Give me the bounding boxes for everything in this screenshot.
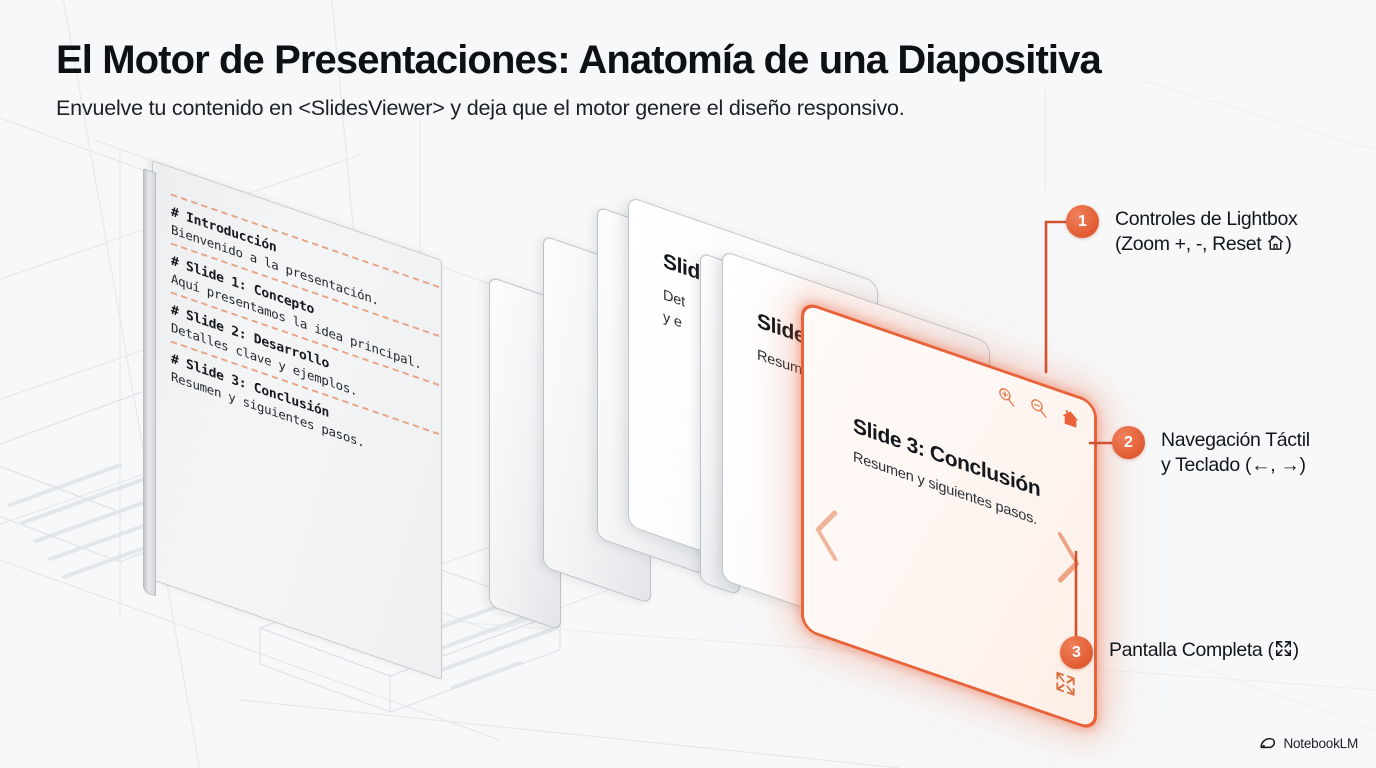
callout-line-2-pre: (Zoom +, -, Reset [1115, 233, 1266, 255]
callout-line-1: Navegación Táctil [1161, 429, 1310, 451]
callout-line-1-post: ) [1293, 639, 1299, 661]
callout-label: Pantalla Completa () [1109, 636, 1299, 663]
callout-label: Navegación Táctil y Teclado (←, →) [1161, 426, 1310, 478]
home-icon [1266, 233, 1285, 252]
callout-label: Controles de Lightbox (Zoom +, -, Reset … [1115, 205, 1297, 257]
callout-1: 1 Controles de Lightbox (Zoom +, -, Rese… [1066, 205, 1297, 257]
callout-line-1: Pantalla Completa ( [1109, 639, 1274, 661]
watermark-label: NotebookLM [1283, 736, 1358, 751]
callouts: 1 Controles de Lightbox (Zoom +, -, Rese… [0, 0, 1376, 768]
callout-line-1: Controles de Lightbox [1115, 208, 1297, 230]
callout-badge: 3 [1060, 636, 1093, 669]
fullscreen-icon [1274, 639, 1293, 658]
callout-badge: 2 [1112, 426, 1145, 459]
callout-line-2: y Teclado (←, →) [1161, 453, 1310, 478]
callout-badge: 1 [1066, 205, 1099, 238]
callout-2: 2 Navegación Táctil y Teclado (←, →) [1112, 426, 1310, 478]
callout-3: 3 Pantalla Completa () [1060, 636, 1299, 669]
notebooklm-watermark: NotebookLM [1259, 735, 1358, 752]
callout-line-2: (Zoom +, -, Reset ) [1115, 232, 1297, 257]
notebooklm-logo-icon [1259, 735, 1276, 752]
callout-line-2-post: ) [1285, 233, 1291, 255]
